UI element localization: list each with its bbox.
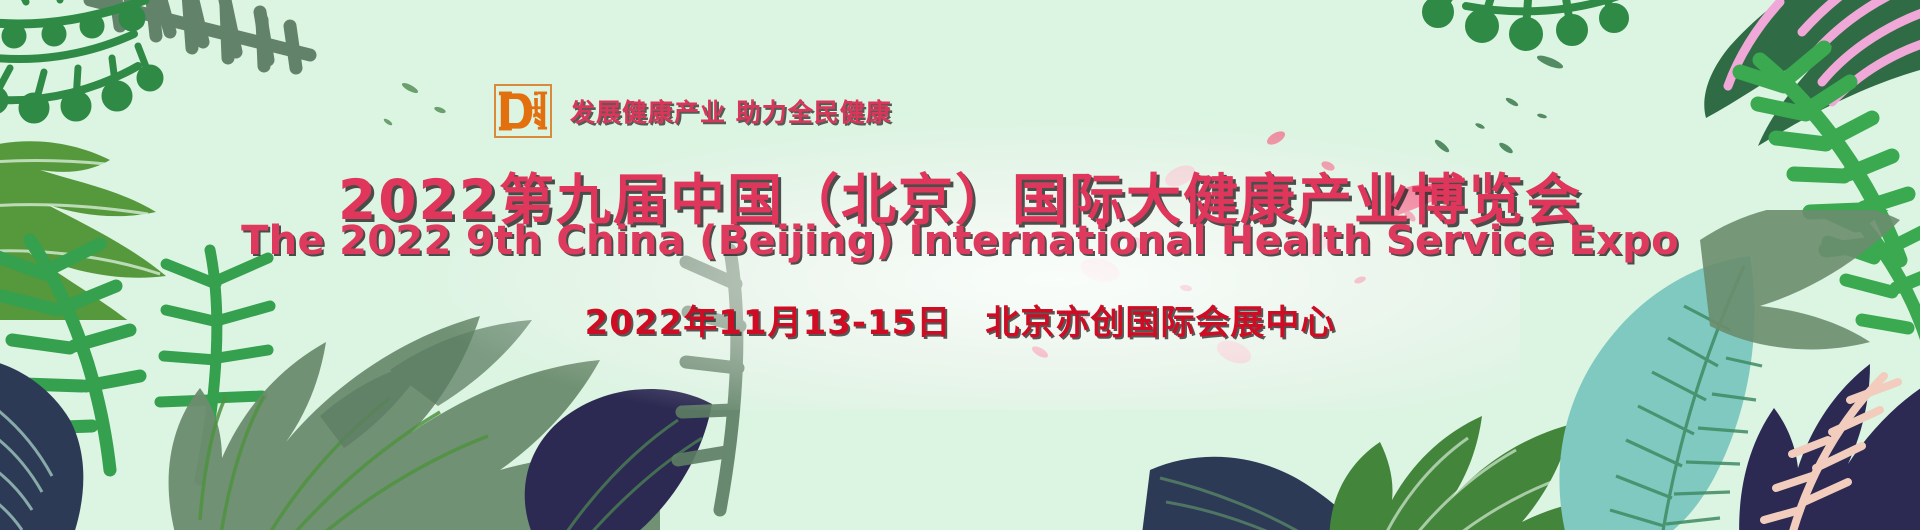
event-venue: 北京亦创国际会展中心 bbox=[985, 303, 1335, 343]
brand-tagline: 发展健康产业 助力全民健康 bbox=[570, 93, 892, 129]
event-date-venue: 2022年11月13-15日北京亦创国际会展中心 bbox=[0, 295, 1920, 344]
brand-row: 发展健康产业 助力全民健康 bbox=[494, 84, 892, 138]
expo-title-english: The 2022 9th China (Beijing) Internation… bbox=[0, 218, 1920, 264]
event-date: 2022年11月13-15日 bbox=[585, 303, 952, 343]
expo-banner: 发展健康产业 助力全民健康 2022第九届中国（北京）国际大健康产业博览会 Th… bbox=[0, 0, 1920, 530]
banner-content: 发展健康产业 助力全民健康 2022第九届中国（北京）国际大健康产业博览会 Th… bbox=[0, 0, 1920, 530]
djk-monogram-icon bbox=[494, 84, 552, 138]
